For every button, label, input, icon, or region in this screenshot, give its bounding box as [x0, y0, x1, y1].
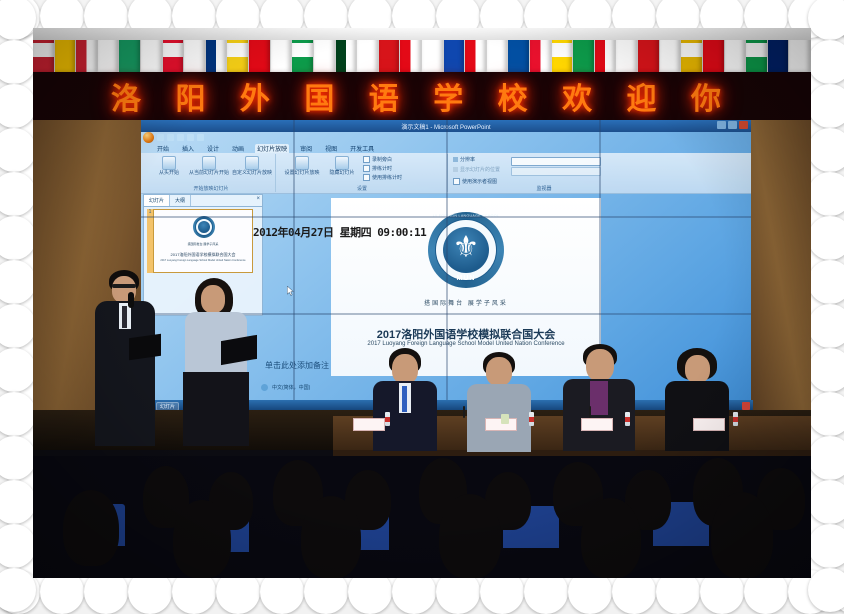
- tab-developer[interactable]: 开发工具: [348, 144, 376, 153]
- scallop-dot: [808, 0, 844, 40]
- audience-member: [711, 492, 773, 578]
- ribbon-group-start-show: 从头开始 从当前幻灯片开始 自定义幻灯片放映 开始放映幻灯片: [147, 154, 276, 192]
- microphone: [463, 406, 465, 418]
- screen-bezel-4: [141, 216, 751, 218]
- ribbon-group-monitors: 分辨率 显示幻灯片的位置 使用演示者视图 监视器: [449, 154, 639, 192]
- ribbon-item-custom-show[interactable]: 自定义幻灯片放映: [231, 156, 273, 177]
- scallop-dot: [808, 260, 844, 304]
- thumbnail-title-en: 2017 Luoyang Foreign Language School Mod…: [154, 259, 252, 262]
- scallop-dot: [0, 0, 36, 40]
- water-bottle: [529, 412, 534, 426]
- paper-cup: [501, 414, 509, 424]
- panel-close-icon[interactable]: ×: [256, 196, 260, 202]
- audience-seating: [33, 456, 811, 578]
- audience-member: [173, 500, 231, 578]
- from-beginning-icon: [162, 156, 176, 170]
- panelist-1-head: [392, 354, 418, 384]
- system-tray[interactable]: [742, 402, 753, 410]
- slide-title-en: 2017 Luoyang Foreign Language School Mod…: [331, 341, 601, 347]
- name-card: [581, 418, 613, 431]
- setup-slideshow-icon: [295, 156, 309, 170]
- ceremony-photograph: 洛 阳 外 国 语 学 校 欢 迎 你 演示文稿1 - Microsoft Po…: [33, 28, 811, 578]
- scallop-dot: [0, 216, 36, 260]
- wall-panel-right: [751, 120, 811, 450]
- audience-member: [63, 490, 119, 566]
- scallop-dot: [808, 216, 844, 260]
- led-welcome-banner: 洛 阳 外 国 语 学 校 欢 迎 你: [33, 72, 811, 120]
- undo-icon[interactable]: [167, 134, 174, 141]
- fleur-de-lis-icon: ⚜: [428, 233, 504, 263]
- ribbon-group-title-start-show: 开始放映幻灯片: [147, 185, 275, 192]
- scallop-dot: [808, 304, 844, 348]
- microphone: [589, 406, 591, 418]
- photo-frame: 洛 阳 外 国 语 学 校 欢 迎 你 演示文稿1 - Microsoft Po…: [0, 0, 844, 606]
- ribbon-item-resolution: 分辨率: [453, 157, 507, 164]
- audience-member: [581, 498, 641, 578]
- scallop-dot: [0, 568, 36, 612]
- scallop-dot: [0, 84, 36, 128]
- ribbon-item-from-beginning[interactable]: 从头开始: [151, 156, 187, 177]
- male-host-folder: [129, 334, 161, 360]
- scallop-dot: [0, 524, 36, 568]
- ceiling-strip: [33, 28, 811, 40]
- panelist-4-head: [685, 355, 710, 383]
- redo-icon[interactable]: [177, 134, 184, 141]
- scallop-dot: [808, 40, 844, 84]
- scallop-dot: [808, 172, 844, 216]
- from-current-slide-icon: [202, 156, 216, 170]
- female-host: [181, 278, 253, 446]
- show-on-icon: [453, 167, 458, 172]
- scallop-dot: [808, 128, 844, 172]
- thumbnail-subtitle: 搭国际舞台 展学子风采: [154, 242, 252, 246]
- tab-animations[interactable]: 动画: [230, 144, 246, 153]
- ribbon-item-use-rehearsed-timings[interactable]: 使用排练计时: [363, 174, 437, 182]
- ribbon-item-setup-show[interactable]: 设置幻灯片放映: [281, 156, 323, 177]
- scallop-dot: [808, 568, 844, 612]
- panel-tab-slides[interactable]: 幻灯片: [144, 195, 170, 206]
- slide-title-cn: 2017洛阳外国语学校模拟联合国大会: [331, 326, 601, 342]
- scallop-dot: [808, 436, 844, 480]
- panelist-3: [563, 344, 639, 450]
- custom-slideshow-icon: [245, 156, 259, 170]
- thumbnail-title-cn: 2017洛阳外国语学校模拟联合国大会: [154, 252, 252, 258]
- ribbon-item-rehearse-timings[interactable]: 排练计时: [363, 165, 433, 173]
- female-host-skirt: [183, 372, 249, 446]
- ribbon-item-from-current[interactable]: 从当前幻灯片开始: [189, 156, 229, 177]
- rehearse-timings-icon: [363, 165, 370, 172]
- scallop-dot: [0, 348, 36, 392]
- ribbon-group-setup: 设置幻灯片放映 隐藏幻灯片 录制旁白 排练计时 使: [277, 154, 448, 192]
- scallop-dot: [0, 480, 36, 524]
- female-host-head: [201, 285, 225, 313]
- tab-view[interactable]: 视图: [323, 144, 339, 153]
- scallop-dot: [808, 392, 844, 436]
- tab-home[interactable]: 开始: [155, 144, 171, 153]
- panelist-1-tie: [402, 386, 407, 412]
- panelist-3-shirt: [590, 381, 608, 415]
- quick-access-toolbar[interactable]: [143, 132, 204, 143]
- tab-insert[interactable]: 插入: [180, 144, 196, 153]
- window-controls[interactable]: [717, 121, 748, 129]
- male-host-glasses: [112, 284, 136, 288]
- scallop-dot: [0, 304, 36, 348]
- tab-slideshow[interactable]: 幻灯片放映: [255, 144, 289, 153]
- scallop-dot: [0, 436, 36, 480]
- maximize-icon[interactable]: [728, 121, 737, 129]
- female-host-folder: [221, 335, 257, 365]
- use-rehearsed-timings-checkbox[interactable]: [363, 174, 370, 181]
- mun-logo: ⚜ MUN LY FOREIGN LANGUAGE SCHOOL: [428, 212, 504, 288]
- play-icon[interactable]: [187, 134, 194, 141]
- male-host-tie: [122, 306, 127, 328]
- ribbon-tab-strip[interactable]: 开始 插入 设计 动画 幻灯片放映 审阅 视图 开发工具: [155, 143, 376, 153]
- screen-bezel-2: [446, 120, 448, 410]
- tab-review[interactable]: 审阅: [298, 144, 314, 153]
- scallop-dot: [0, 260, 36, 304]
- panelist-2-head: [486, 357, 512, 386]
- scallop-dot: [808, 84, 844, 128]
- water-bottle: [385, 412, 390, 426]
- mun-logo-word: MUN: [428, 275, 504, 282]
- scallop-dot: [0, 392, 36, 436]
- panelist-4-top: [665, 381, 729, 451]
- thumb-logo-core: [198, 221, 210, 233]
- scallop-dot: [0, 128, 36, 172]
- minimize-icon[interactable]: [717, 121, 726, 129]
- ribbon-item-show-on: 显示幻灯片的位置: [453, 167, 509, 174]
- audience-member: [301, 496, 361, 578]
- ribbon-item-record-narration[interactable]: 录制旁白: [363, 156, 433, 164]
- datetime-overlay: 2012年04月27日 星期四 09:00:11: [253, 224, 426, 240]
- scallop-edge-left: [0, 0, 36, 612]
- screen-bezel-1: [293, 120, 295, 410]
- status-icon: [261, 384, 268, 391]
- panelist-4: [663, 348, 733, 450]
- panel-tab-strip[interactable]: 幻灯片 大纲: [144, 195, 262, 207]
- ribbon-group-title-monitors: 监视器: [449, 185, 639, 192]
- close-icon[interactable]: [739, 121, 748, 129]
- water-bottle: [733, 412, 738, 426]
- resolution-icon: [453, 157, 458, 162]
- office-button-icon[interactable]: [143, 132, 154, 143]
- water-bottle: [625, 412, 630, 426]
- panelist-1: [371, 348, 441, 450]
- slide-subtitle: 搭国际舞台 展学子风采: [331, 298, 601, 307]
- save-icon[interactable]: [157, 134, 164, 141]
- thumbnail-mun-logo: [193, 216, 215, 238]
- ribbon-group-title-setup: 设置: [277, 185, 447, 192]
- slide-thumbnail[interactable]: 搭国际舞台 展学子风采 2017洛阳外国语学校模拟联合国大会 2017 Luoy…: [153, 209, 253, 273]
- tab-design[interactable]: 设计: [205, 144, 221, 153]
- presenter-view-checkbox[interactable]: [453, 178, 460, 185]
- microphone: [128, 292, 134, 308]
- show-on-dropdown[interactable]: [511, 167, 601, 176]
- male-host: [95, 270, 157, 446]
- ribbon-item-hide-slide[interactable]: 隐藏幻灯片: [325, 156, 359, 177]
- panelist-3-head: [586, 349, 614, 381]
- panelist-2: [465, 352, 535, 450]
- scallop-dot: [808, 480, 844, 524]
- panel-tab-outline[interactable]: 大纲: [170, 195, 191, 206]
- ime-icon[interactable]: [742, 402, 750, 410]
- scallop-dot: [808, 348, 844, 392]
- audience-member: [439, 494, 501, 578]
- name-card: [353, 418, 385, 431]
- scallop-dot: [0, 172, 36, 216]
- scallop-dot: [0, 40, 36, 84]
- record-narration-icon: [363, 156, 370, 163]
- resolution-dropdown[interactable]: [511, 157, 601, 166]
- thumbnail-row[interactable]: 1 搭国际舞台 展学子风采 2017洛阳外国语学校模拟联合国大会 2017 Lu…: [147, 209, 253, 273]
- led-banner-text: 洛 阳 外 国 语 学 校 欢 迎 你: [111, 74, 733, 118]
- customize-icon[interactable]: [197, 134, 204, 141]
- hide-slide-icon: [335, 156, 349, 170]
- scallop-dot: [808, 524, 844, 568]
- status-language: 中文(简体，中国): [272, 384, 310, 391]
- name-card: [693, 418, 725, 431]
- scallop-edge-right: [808, 0, 844, 612]
